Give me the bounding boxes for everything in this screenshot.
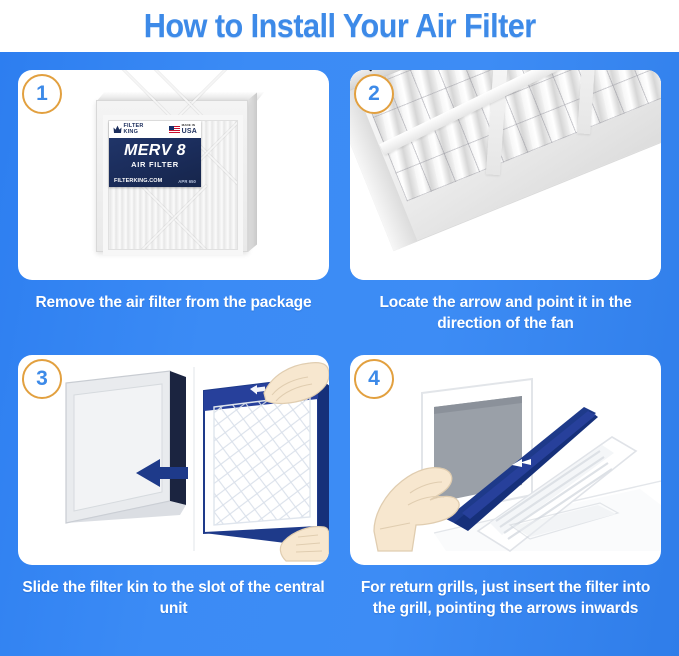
step-badge-2: 2 bbox=[354, 74, 394, 114]
step-3-card: 3 bbox=[18, 355, 329, 565]
air-filter-unit bbox=[204, 377, 329, 547]
page-title: How to Install Your Air Filter bbox=[144, 8, 536, 44]
filter-front-face: FILTER KING MADE IN bbox=[96, 100, 248, 252]
product-label-footer: FILTERKING.COM APR 650 bbox=[109, 178, 201, 184]
step-panel-3: 3 Slide the filter kin to the slot of th… bbox=[18, 355, 329, 619]
airflow-arrow-tail bbox=[365, 70, 374, 72]
filter-side-edge bbox=[248, 92, 257, 252]
step-1-card: FILTER KING MADE IN bbox=[18, 70, 329, 280]
step-panel-1: FILTER KING MADE IN bbox=[18, 70, 329, 313]
step-panel-2: Air Filter AIRFLOW 2 Locate the arrow an… bbox=[350, 70, 661, 334]
step-caption-3: Slide the filter kin to the slot of the … bbox=[18, 577, 329, 619]
step-caption-2: Locate the arrow and point it in the dir… bbox=[350, 292, 661, 334]
step-2-artwork: Air Filter AIRFLOW bbox=[350, 70, 661, 280]
step-panel-4: 4 For return grills, just insert the fil… bbox=[350, 355, 661, 619]
header: How to Install Your Air Filter bbox=[0, 0, 679, 52]
step-badge-1: 1 bbox=[22, 74, 62, 114]
step-caption-1: Remove the air filter from the package bbox=[18, 292, 329, 313]
step-3-artwork bbox=[18, 355, 329, 565]
brand-website: FILTERKING.COM bbox=[114, 178, 162, 184]
product-label: FILTER KING MADE IN bbox=[109, 121, 201, 187]
product-label-header: FILTER KING MADE IN bbox=[109, 121, 201, 138]
step-4-card: 4 bbox=[350, 355, 661, 565]
return-grill-illustration bbox=[350, 355, 661, 565]
merv-rating: MERV 8 bbox=[109, 143, 201, 159]
made-in-usa-text: MADE IN USA bbox=[182, 124, 197, 134]
brand-name: FILTER KING bbox=[124, 124, 144, 135]
infographic-how-to-install-air-filter: How to Install Your Air Filter bbox=[0, 0, 679, 656]
steps-stage: FILTER KING MADE IN bbox=[0, 52, 679, 656]
made-in-usa-lockup: MADE IN USA bbox=[169, 124, 197, 134]
step-1-artwork: FILTER KING MADE IN bbox=[18, 70, 329, 280]
slide-filter-illustration bbox=[18, 355, 329, 565]
step-caption-4: For return grills, just insert the filte… bbox=[350, 577, 661, 619]
step-badge-3: 3 bbox=[22, 359, 62, 399]
apr-rating: APR 650 bbox=[178, 179, 196, 184]
filter-corner-photo: Air Filter AIRFLOW bbox=[350, 70, 661, 280]
usa-flag-icon bbox=[169, 126, 180, 133]
central-unit-slot bbox=[66, 371, 186, 523]
filter-corner-frame: Air Filter AIRFLOW bbox=[350, 70, 661, 280]
step-4-artwork bbox=[350, 355, 661, 565]
steps-grid: FILTER KING MADE IN bbox=[0, 52, 679, 656]
step-2-card: Air Filter AIRFLOW 2 bbox=[350, 70, 661, 280]
filter-king-crown-icon bbox=[113, 124, 122, 135]
step-badge-4: 4 bbox=[354, 359, 394, 399]
product-type: AIR FILTER bbox=[109, 161, 201, 169]
brand-lockup: FILTER KING bbox=[113, 124, 144, 135]
air-filter-product-photo: FILTER KING MADE IN bbox=[96, 92, 264, 260]
